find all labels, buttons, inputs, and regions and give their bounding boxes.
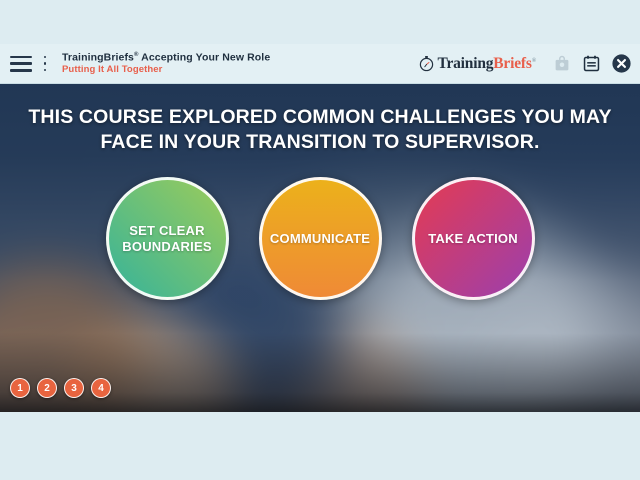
pager-dot-1[interactable]: 1 <box>10 378 30 398</box>
slide-headline: THIS COURSE EXPLORED COMMON CHALLENGES Y… <box>0 105 640 155</box>
notes-icon[interactable] <box>581 53 602 74</box>
slide-canvas: THIS COURSE EXPLORED COMMON CHALLENGES Y… <box>0 84 640 412</box>
kebab-dot <box>44 56 47 59</box>
pager-dot-3[interactable]: 3 <box>64 378 84 398</box>
logo-word-briefs: Briefs <box>493 55 531 72</box>
course-subtitle: Putting It All Together <box>62 65 418 76</box>
pager-dot-2[interactable]: 2 <box>37 378 57 398</box>
slide-pager: 1 2 3 4 <box>10 378 111 398</box>
attachment-icon <box>551 53 572 74</box>
pager-dot-4[interactable]: 4 <box>91 378 111 398</box>
close-icon[interactable] <box>611 53 632 74</box>
takeaway-bubble-3[interactable]: TAKE ACTION <box>412 177 535 300</box>
course-title: TrainingBriefs® Accepting Your New Role <box>62 52 418 64</box>
logo-registered-mark: ® <box>532 57 536 63</box>
hamburger-line <box>10 69 32 72</box>
hamburger-menu-icon[interactable] <box>10 56 32 72</box>
stopwatch-icon <box>418 55 435 72</box>
logo-word-training: Training <box>437 55 493 72</box>
kebab-dot <box>44 62 47 65</box>
header-actions: TrainingBriefs® <box>418 53 632 74</box>
trainingbriefs-logo: TrainingBriefs® <box>418 55 536 73</box>
takeaway-bubble-1[interactable]: SET CLEAR BOUNDARIES <box>106 177 229 300</box>
course-title-block: TrainingBriefs® Accepting Your New Role … <box>62 52 418 76</box>
kebab-menu-icon[interactable] <box>40 56 50 72</box>
course-title-rest: Accepting Your New Role <box>139 51 271 63</box>
kebab-dot <box>44 69 47 72</box>
takeaway-bubble-2[interactable]: COMMUNICATE <box>259 177 382 300</box>
hamburger-line <box>10 56 32 59</box>
course-player: TrainingBriefs® Accepting Your New Role … <box>0 0 640 480</box>
hamburger-line <box>10 62 32 65</box>
course-title-brand: TrainingBriefs <box>62 51 134 63</box>
logo-wordmark: TrainingBriefs® <box>437 55 536 73</box>
key-takeaway-group: SET CLEAR BOUNDARIES COMMUNICATE TAKE AC… <box>0 177 640 300</box>
player-header: TrainingBriefs® Accepting Your New Role … <box>0 44 640 84</box>
